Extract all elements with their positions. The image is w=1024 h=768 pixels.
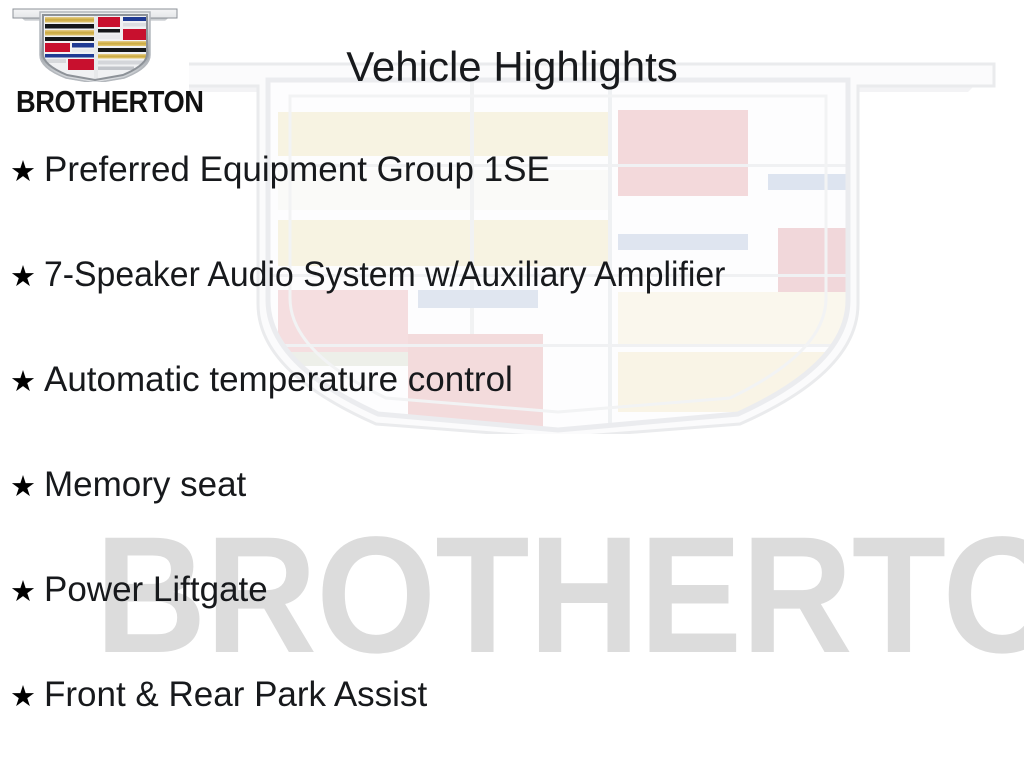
highlight-label: 7-Speaker Audio System w/Auxiliary Ampli… [44,255,990,295]
star-bullet-icon: ★ [10,574,44,610]
star-bullet-icon: ★ [10,469,44,505]
highlight-label: Memory seat [44,465,1024,505]
star-bullet-icon: ★ [10,679,44,715]
highlight-label: Power Liftgate [44,570,1024,610]
star-bullet-icon: ★ [10,259,44,295]
star-bullet-icon: ★ [10,364,44,400]
list-item: ★ 7-Speaker Audio System w/Auxiliary Amp… [0,255,1024,360]
vehicle-highlights-page: BROTHERTON [0,0,1024,768]
list-item: ★ Automatic temperature control [0,360,1024,465]
list-item: ★ Memory seat [0,465,1024,570]
vehicle-highlights-list: ★ Preferred Equipment Group 1SE ★ 7-Spea… [0,150,1024,768]
highlight-label: Preferred Equipment Group 1SE [44,150,1024,190]
star-bullet-icon: ★ [10,154,44,190]
list-item: ★ Front & Rear Park Assist [0,675,1024,768]
cadillac-crest-icon [12,6,178,82]
dealer-logo: BROTHERTON [0,0,189,126]
highlight-label: Front & Rear Park Assist [44,675,1024,715]
list-item: ★ Preferred Equipment Group 1SE [0,150,1024,255]
list-item: ★ Power Liftgate [0,570,1024,675]
highlight-label: Automatic temperature control [44,360,1024,400]
dealer-logo-wordmark: BROTHERTON [16,86,160,118]
